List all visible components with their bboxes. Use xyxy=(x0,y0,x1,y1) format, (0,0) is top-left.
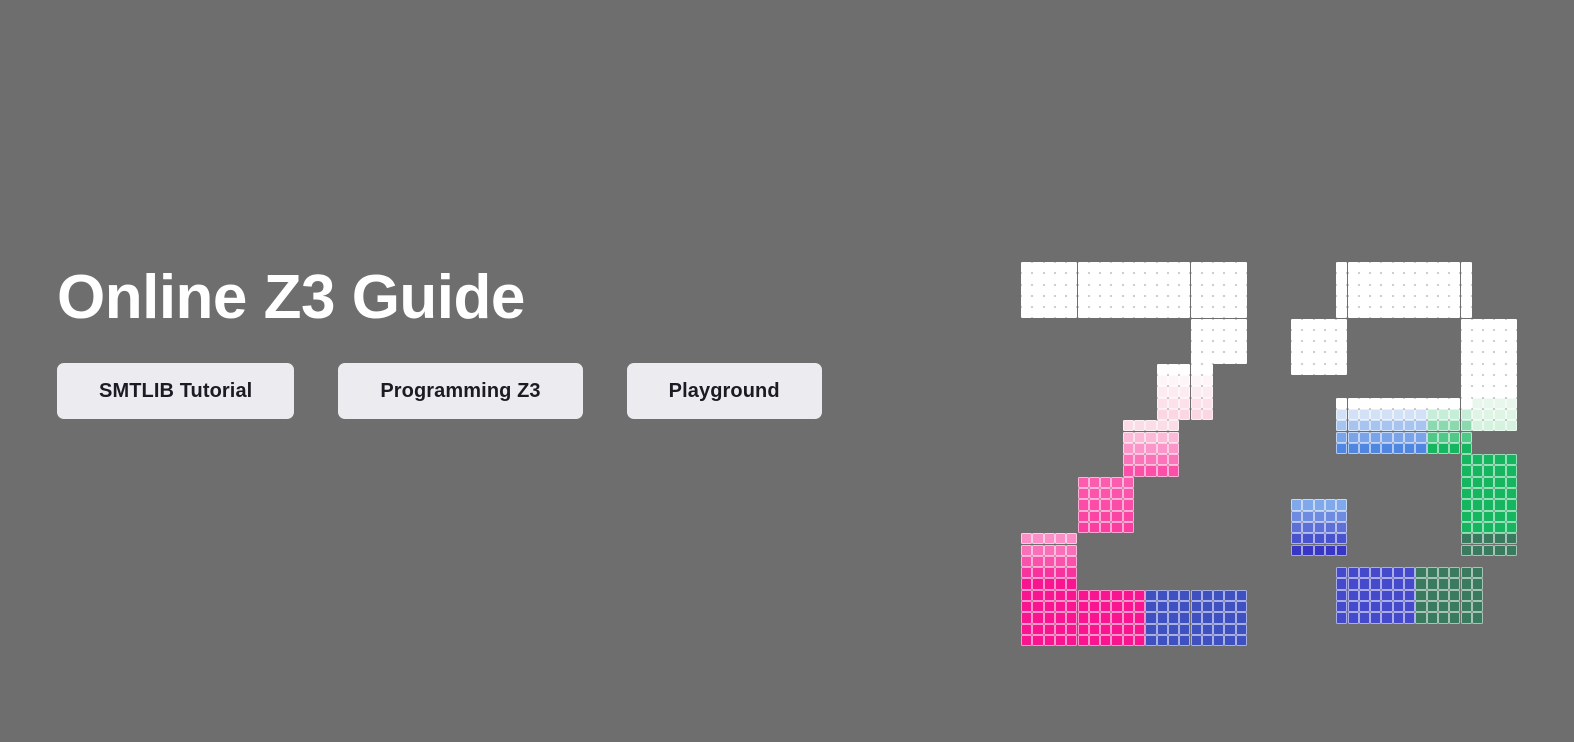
logo-pixel xyxy=(1078,635,1089,646)
logo-pixel xyxy=(1032,567,1043,578)
logo-pixel xyxy=(1213,341,1224,352)
logo-pixel xyxy=(1044,601,1055,612)
logo-pixel xyxy=(1078,307,1089,318)
logo-pixel xyxy=(1336,420,1347,431)
logo-pixel xyxy=(1089,601,1100,612)
logo-pixel xyxy=(1179,262,1190,273)
logo-pixel xyxy=(1483,488,1494,499)
logo-pixel xyxy=(1157,465,1168,476)
logo-pixel xyxy=(1348,398,1359,409)
logo-pixel xyxy=(1179,601,1190,612)
logo-pixel xyxy=(1438,567,1449,578)
logo-pixel xyxy=(1381,273,1392,284)
logo-pixel xyxy=(1236,590,1247,601)
logo-pixel xyxy=(1021,307,1032,318)
logo-pixel xyxy=(1168,409,1179,420)
logo-pixel xyxy=(1427,612,1438,623)
logo-pixel xyxy=(1224,273,1235,284)
logo-pixel xyxy=(1472,420,1483,431)
logo-pixel xyxy=(1111,488,1122,499)
logo-pixel xyxy=(1483,352,1494,363)
logo-pixel xyxy=(1348,612,1359,623)
logo-pixel xyxy=(1202,409,1213,420)
logo-pixel xyxy=(1066,296,1077,307)
logo-pixel xyxy=(1336,409,1347,420)
logo-pixel xyxy=(1179,612,1190,623)
logo-pixel xyxy=(1202,375,1213,386)
logo-pixel xyxy=(1472,578,1483,589)
logo-pixel xyxy=(1494,477,1505,488)
logo-pixel xyxy=(1449,296,1460,307)
logo-pixel xyxy=(1472,590,1483,601)
logo-pixel xyxy=(1066,556,1077,567)
logo-pixel xyxy=(1157,262,1168,273)
logo-pixel xyxy=(1449,420,1460,431)
logo-pixel xyxy=(1359,420,1370,431)
logo-pixel xyxy=(1438,296,1449,307)
logo-pixel xyxy=(1134,624,1145,635)
logo-pixel xyxy=(1055,635,1066,646)
logo-pixel xyxy=(1336,578,1347,589)
logo-pixel xyxy=(1438,578,1449,589)
logo-pixel xyxy=(1224,341,1235,352)
logo-pixel xyxy=(1134,465,1145,476)
logo-pixel xyxy=(1449,409,1460,420)
logo-pixel xyxy=(1336,341,1347,352)
logo-pixel xyxy=(1336,432,1347,443)
logo-pixel xyxy=(1494,533,1505,544)
logo-pixel xyxy=(1302,352,1313,363)
logo-pixel xyxy=(1179,409,1190,420)
logo-pixel xyxy=(1032,296,1043,307)
logo-pixel xyxy=(1145,285,1156,296)
logo-pixel xyxy=(1472,330,1483,341)
logo-pixel xyxy=(1191,375,1202,386)
logo-pixel xyxy=(1415,443,1426,454)
logo-pixel xyxy=(1111,590,1122,601)
logo-pixel xyxy=(1224,319,1235,330)
logo-pixel xyxy=(1336,567,1347,578)
logo-pixel xyxy=(1404,273,1415,284)
logo-pixel xyxy=(1236,352,1247,363)
logo-pixel xyxy=(1236,296,1247,307)
logo-pixel xyxy=(1145,465,1156,476)
logo-pixel xyxy=(1449,273,1460,284)
logo-pixel xyxy=(1302,522,1313,533)
logo-pixel xyxy=(1055,601,1066,612)
logo-pixel xyxy=(1078,612,1089,623)
logo-pixel xyxy=(1145,296,1156,307)
logo-pixel xyxy=(1427,296,1438,307)
logo-pixel xyxy=(1461,307,1472,318)
logo-pixel xyxy=(1157,409,1168,420)
logo-pixel xyxy=(1291,330,1302,341)
logo-pixel xyxy=(1336,499,1347,510)
logo-pixel xyxy=(1168,273,1179,284)
logo-pixel xyxy=(1145,612,1156,623)
logo-pixel xyxy=(1506,477,1517,488)
logo-pixel xyxy=(1494,511,1505,522)
logo-pixel xyxy=(1021,601,1032,612)
logo-pixel xyxy=(1506,511,1517,522)
logo-pixel xyxy=(1191,398,1202,409)
logo-pixel xyxy=(1427,262,1438,273)
logo-pixel xyxy=(1236,341,1247,352)
logo-pixel xyxy=(1044,567,1055,578)
logo-pixel xyxy=(1111,511,1122,522)
logo-pixel xyxy=(1438,262,1449,273)
logo-pixel xyxy=(1179,285,1190,296)
logo-pixel xyxy=(1213,601,1224,612)
logo-pixel xyxy=(1336,533,1347,544)
logo-pixel xyxy=(1427,285,1438,296)
logo-pixel xyxy=(1336,330,1347,341)
logo-pixel xyxy=(1123,273,1134,284)
logo-pixel xyxy=(1336,601,1347,612)
logo-pixel xyxy=(1123,488,1134,499)
logo-pixel xyxy=(1100,522,1111,533)
logo-pixel xyxy=(1438,420,1449,431)
logo-pixel xyxy=(1494,398,1505,409)
programming-z3-button[interactable]: Programming Z3 xyxy=(338,363,582,419)
logo-pixel xyxy=(1348,262,1359,273)
logo-pixel xyxy=(1032,307,1043,318)
playground-button[interactable]: Playground xyxy=(627,363,822,419)
logo-pixel xyxy=(1348,567,1359,578)
logo-pixel xyxy=(1168,364,1179,375)
logo-pixel xyxy=(1123,477,1134,488)
logo-pixel xyxy=(1157,454,1168,465)
logo-pixel xyxy=(1404,398,1415,409)
logo-pixel xyxy=(1348,601,1359,612)
logo-pixel xyxy=(1111,624,1122,635)
logo-pixel xyxy=(1100,499,1111,510)
logo-pixel xyxy=(1461,432,1472,443)
logo-pixel xyxy=(1179,307,1190,318)
logo-pixel xyxy=(1461,352,1472,363)
logo-pixel xyxy=(1359,296,1370,307)
logo-pixel xyxy=(1415,285,1426,296)
logo-pixel xyxy=(1427,307,1438,318)
logo-pixel xyxy=(1461,488,1472,499)
logo-pixel xyxy=(1314,352,1325,363)
logo-pixel xyxy=(1100,307,1111,318)
logo-pixel xyxy=(1202,398,1213,409)
logo-pixel xyxy=(1145,624,1156,635)
logo-pixel xyxy=(1415,578,1426,589)
logo-pixel xyxy=(1066,624,1077,635)
logo-pixel xyxy=(1179,296,1190,307)
logo-pixel xyxy=(1415,409,1426,420)
logo-pixel xyxy=(1381,601,1392,612)
logo-pixel xyxy=(1415,601,1426,612)
logo-pixel xyxy=(1055,590,1066,601)
logo-pixel xyxy=(1291,352,1302,363)
logo-pixel xyxy=(1089,612,1100,623)
logo-pixel xyxy=(1370,273,1381,284)
logo-pixel xyxy=(1134,273,1145,284)
logo-pixel xyxy=(1089,273,1100,284)
logo-pixel xyxy=(1461,262,1472,273)
logo-pixel xyxy=(1449,398,1460,409)
logo-pixel xyxy=(1506,499,1517,510)
logo-pixel xyxy=(1461,398,1472,409)
logo-pixel xyxy=(1370,612,1381,623)
logo-pixel xyxy=(1483,533,1494,544)
logo-pixel xyxy=(1236,624,1247,635)
logo-pixel xyxy=(1381,285,1392,296)
logo-pixel xyxy=(1449,443,1460,454)
logo-pixel xyxy=(1438,398,1449,409)
logo-pixel xyxy=(1157,590,1168,601)
logo-pixel xyxy=(1461,612,1472,623)
logo-pixel xyxy=(1325,499,1336,510)
logo-pixel xyxy=(1427,443,1438,454)
logo-pixel xyxy=(1427,578,1438,589)
logo-pixel xyxy=(1213,635,1224,646)
logo-pixel xyxy=(1157,635,1168,646)
logo-pixel xyxy=(1370,409,1381,420)
logo-pixel xyxy=(1483,409,1494,420)
logo-pixel xyxy=(1066,262,1077,273)
logo-pixel xyxy=(1191,590,1202,601)
logo-pixel xyxy=(1438,307,1449,318)
logo-pixel xyxy=(1032,556,1043,567)
logo-pixel xyxy=(1157,273,1168,284)
logo-pixel xyxy=(1066,567,1077,578)
logo-pixel xyxy=(1472,612,1483,623)
logo-pixel xyxy=(1044,273,1055,284)
logo-pixel xyxy=(1157,386,1168,397)
logo-pixel xyxy=(1348,420,1359,431)
logo-pixel xyxy=(1381,578,1392,589)
logo-pixel xyxy=(1336,545,1347,556)
logo-pixel xyxy=(1494,465,1505,476)
logo-pixel xyxy=(1123,511,1134,522)
logo-pixel xyxy=(1370,590,1381,601)
logo-pixel xyxy=(1236,285,1247,296)
logo-pixel xyxy=(1236,262,1247,273)
logo-pixel xyxy=(1381,567,1392,578)
logo-pixel xyxy=(1145,307,1156,318)
logo-pixel xyxy=(1089,522,1100,533)
logo-pixel xyxy=(1472,567,1483,578)
logo-pixel xyxy=(1179,364,1190,375)
logo-pixel xyxy=(1449,612,1460,623)
logo-pixel xyxy=(1191,352,1202,363)
logo-pixel xyxy=(1359,273,1370,284)
logo-pixel xyxy=(1168,443,1179,454)
logo-pixel xyxy=(1461,364,1472,375)
logo-pixel xyxy=(1461,443,1472,454)
logo-pixel xyxy=(1224,296,1235,307)
logo-pixel xyxy=(1179,590,1190,601)
logo-pixel xyxy=(1123,262,1134,273)
logo-pixel xyxy=(1336,398,1347,409)
logo-pixel xyxy=(1393,567,1404,578)
logo-pixel xyxy=(1336,511,1347,522)
logo-pixel xyxy=(1202,635,1213,646)
logo-pixel xyxy=(1427,420,1438,431)
logo-pixel xyxy=(1111,635,1122,646)
logo-pixel xyxy=(1111,522,1122,533)
logo-pixel xyxy=(1472,488,1483,499)
logo-pixel xyxy=(1461,601,1472,612)
logo-pixel xyxy=(1213,307,1224,318)
logo-pixel xyxy=(1314,511,1325,522)
logo-pixel xyxy=(1100,296,1111,307)
logo-pixel xyxy=(1224,262,1235,273)
logo-pixel xyxy=(1157,285,1168,296)
logo-pixel xyxy=(1506,330,1517,341)
logo-pixel xyxy=(1325,545,1336,556)
logo-pixel xyxy=(1370,601,1381,612)
logo-pixel xyxy=(1078,285,1089,296)
logo-pixel xyxy=(1236,612,1247,623)
logo-pixel xyxy=(1055,578,1066,589)
logo-pixel xyxy=(1472,409,1483,420)
logo-pixel xyxy=(1066,601,1077,612)
logo-pixel xyxy=(1438,590,1449,601)
logo-pixel xyxy=(1123,432,1134,443)
logo-pixel xyxy=(1427,409,1438,420)
logo-pixel xyxy=(1089,488,1100,499)
logo-pixel xyxy=(1157,432,1168,443)
logo-pixel xyxy=(1123,454,1134,465)
logo-pixel xyxy=(1078,590,1089,601)
logo-pixel xyxy=(1021,635,1032,646)
logo-pixel xyxy=(1044,556,1055,567)
logo-pixel xyxy=(1032,285,1043,296)
logo-pixel xyxy=(1348,285,1359,296)
logo-pixel xyxy=(1078,624,1089,635)
logo-pixel xyxy=(1157,420,1168,431)
logo-pixel xyxy=(1302,545,1313,556)
logo-pixel xyxy=(1506,398,1517,409)
logo-pixel xyxy=(1021,262,1032,273)
logo-pixel xyxy=(1089,262,1100,273)
logo-pixel xyxy=(1348,307,1359,318)
logo-pixel xyxy=(1449,262,1460,273)
logo-pixel xyxy=(1021,273,1032,284)
logo-pixel xyxy=(1179,635,1190,646)
logo-pixel xyxy=(1157,624,1168,635)
logo-pixel xyxy=(1291,364,1302,375)
logo-pixel xyxy=(1483,420,1494,431)
logo-pixel xyxy=(1472,545,1483,556)
logo-pixel xyxy=(1123,307,1134,318)
logo-pixel xyxy=(1168,285,1179,296)
logo-pixel xyxy=(1055,307,1066,318)
logo-pixel xyxy=(1111,499,1122,510)
logo-pixel xyxy=(1449,285,1460,296)
logo-pixel xyxy=(1202,285,1213,296)
logo-pixel xyxy=(1157,307,1168,318)
logo-pixel xyxy=(1224,612,1235,623)
logo-pixel xyxy=(1359,578,1370,589)
logo-pixel xyxy=(1044,578,1055,589)
logo-pixel xyxy=(1066,307,1077,318)
logo-pixel xyxy=(1032,624,1043,635)
logo-pixel xyxy=(1348,590,1359,601)
logo-pixel xyxy=(1179,398,1190,409)
logo-pixel xyxy=(1438,409,1449,420)
logo-pixel xyxy=(1213,590,1224,601)
logo-pixel xyxy=(1370,578,1381,589)
logo-pixel xyxy=(1472,477,1483,488)
logo-pixel xyxy=(1449,307,1460,318)
smtlib-tutorial-button[interactable]: SMTLIB Tutorial xyxy=(57,363,294,419)
logo-pixel xyxy=(1359,590,1370,601)
logo-pixel xyxy=(1494,319,1505,330)
logo-pixel xyxy=(1224,601,1235,612)
logo-pixel xyxy=(1483,386,1494,397)
logo-pixel xyxy=(1393,273,1404,284)
logo-pixel xyxy=(1472,386,1483,397)
logo-pixel xyxy=(1336,612,1347,623)
logo-pixel xyxy=(1494,499,1505,510)
logo-pixel xyxy=(1202,612,1213,623)
logo-pixel xyxy=(1224,285,1235,296)
logo-pixel xyxy=(1461,386,1472,397)
logo-pixel xyxy=(1100,635,1111,646)
logo-pixel xyxy=(1236,330,1247,341)
logo-pixel xyxy=(1404,432,1415,443)
logo-pixel xyxy=(1438,612,1449,623)
logo-pixel xyxy=(1078,273,1089,284)
logo-pixel xyxy=(1145,635,1156,646)
logo-pixel xyxy=(1393,601,1404,612)
logo-pixel xyxy=(1134,443,1145,454)
logo-pixel xyxy=(1066,273,1077,284)
logo-pixel xyxy=(1449,432,1460,443)
logo-pixel xyxy=(1336,262,1347,273)
logo-pixel xyxy=(1381,262,1392,273)
logo-pixel xyxy=(1393,398,1404,409)
logo-pixel xyxy=(1202,352,1213,363)
logo-pixel xyxy=(1404,420,1415,431)
logo-pixel xyxy=(1506,364,1517,375)
logo-pixel xyxy=(1404,567,1415,578)
logo-pixel xyxy=(1202,262,1213,273)
logo-pixel xyxy=(1111,477,1122,488)
logo-pixel xyxy=(1191,262,1202,273)
logo-pixel xyxy=(1359,432,1370,443)
logo-pixel xyxy=(1494,409,1505,420)
logo-pixel xyxy=(1191,386,1202,397)
logo-pixel xyxy=(1134,612,1145,623)
logo-pixel xyxy=(1404,590,1415,601)
logo-pixel xyxy=(1213,319,1224,330)
logo-pixel xyxy=(1111,262,1122,273)
logo-pixel xyxy=(1494,364,1505,375)
logo-pixel xyxy=(1157,375,1168,386)
logo-pixel xyxy=(1236,635,1247,646)
logo-pixel xyxy=(1066,635,1077,646)
logo-pixel xyxy=(1314,330,1325,341)
logo-pixel xyxy=(1179,375,1190,386)
logo-pixel xyxy=(1336,285,1347,296)
logo-pixel xyxy=(1461,296,1472,307)
logo-pixel xyxy=(1336,352,1347,363)
logo-pixel xyxy=(1191,635,1202,646)
logo-pixel xyxy=(1393,296,1404,307)
logo-pixel xyxy=(1145,443,1156,454)
logo-pixel xyxy=(1336,296,1347,307)
logo-pixel xyxy=(1236,307,1247,318)
logo-pixel xyxy=(1325,533,1336,544)
logo-pixel xyxy=(1404,296,1415,307)
